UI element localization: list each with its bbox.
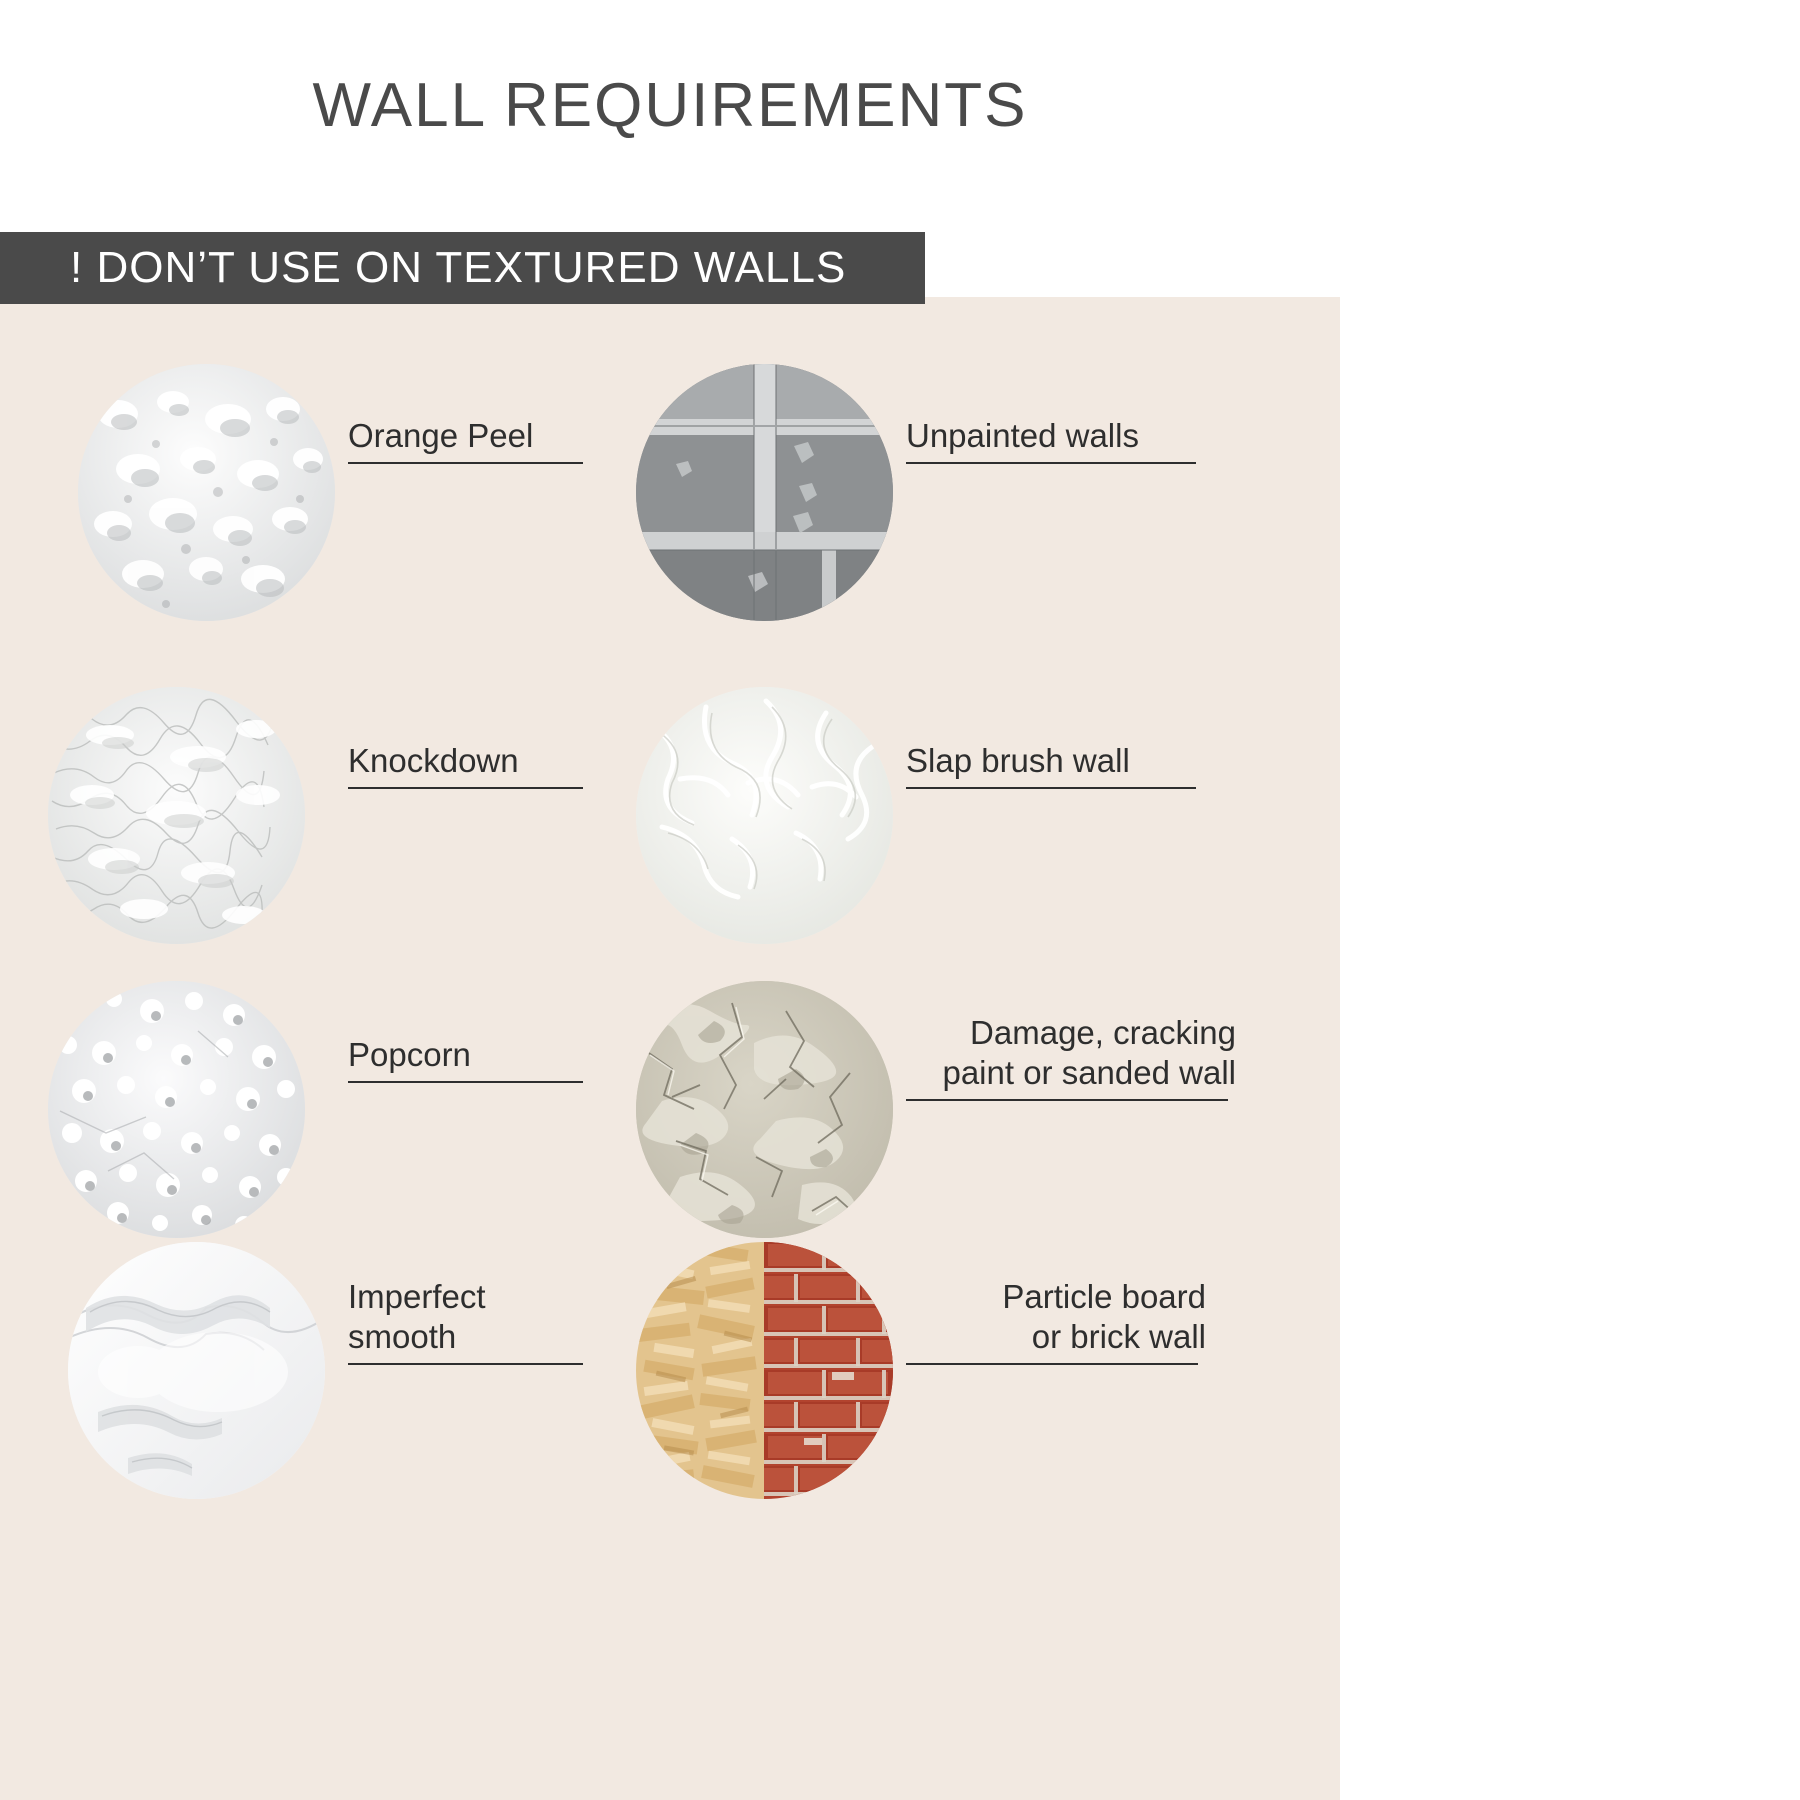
texture-particle-board-brick-swatch (636, 1242, 893, 1499)
texture-label-imperfect-smooth: Imperfect smooth (348, 1237, 588, 1405)
label-underline (348, 462, 583, 464)
texture-label-popcorn: Popcorn (348, 995, 588, 1123)
texture-label-text: Popcorn (348, 1036, 471, 1073)
texture-label-unpainted-walls: Unpainted walls (906, 376, 1206, 504)
texture-orange-peel-swatch (78, 364, 335, 621)
label-underline (906, 1363, 1198, 1365)
label-underline (348, 1081, 583, 1083)
texture-label-slap-brush-wall: Slap brush wall (906, 701, 1206, 829)
texture-popcorn-swatch (48, 981, 305, 1238)
texture-label-text: Slap brush wall (906, 742, 1130, 779)
texture-knockdown-swatch (48, 687, 305, 944)
texture-label-orange-peel: Orange Peel (348, 376, 588, 504)
texture-label-text: Orange Peel (348, 417, 533, 454)
texture-label-text: Imperfect smooth (348, 1278, 486, 1355)
texture-damage-cracking-swatch (636, 981, 893, 1238)
texture-label-damage-cracking: Damage, cracking paint or sanded wall (906, 973, 1236, 1141)
label-underline (906, 462, 1196, 464)
infographic-page: WALL REQUIREMENTS ! DON’T USE ON TEXTURE… (0, 0, 1800, 1800)
page-title: WALL REQUIREMENTS (0, 70, 1340, 141)
label-underline (906, 1099, 1228, 1101)
texture-label-particle-board-brick: Particle board or brick wall (906, 1237, 1206, 1405)
label-underline (348, 787, 583, 789)
texture-grid: Orange Peel (0, 297, 1340, 1800)
texture-label-text: Particle board or brick wall (1002, 1278, 1206, 1355)
warning-banner-label: ! DON’T USE ON TEXTURED WALLS (0, 243, 846, 293)
texture-label-text: Unpainted walls (906, 417, 1139, 454)
texture-label-text: Damage, cracking paint or sanded wall (942, 1014, 1236, 1091)
label-underline (906, 787, 1196, 789)
texture-unpainted-walls-swatch (636, 364, 893, 621)
warning-banner: ! DON’T USE ON TEXTURED WALLS (0, 232, 925, 304)
texture-label-knockdown: Knockdown (348, 701, 588, 829)
texture-label-text: Knockdown (348, 742, 519, 779)
texture-imperfect-smooth-swatch (68, 1242, 325, 1499)
label-underline (348, 1363, 583, 1365)
advice-card-column: After painting you have to wait at least… (1340, 0, 1800, 1800)
texture-slap-brush-swatch (636, 687, 893, 944)
